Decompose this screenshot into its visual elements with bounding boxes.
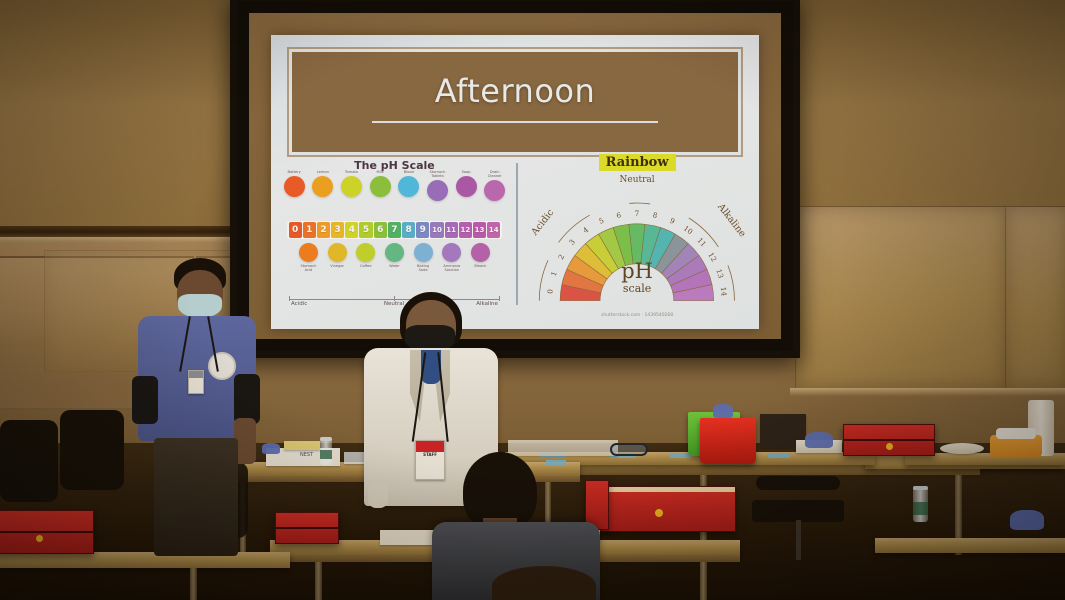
surgical-mask-icon	[178, 294, 222, 318]
ph-item: Drain Cleaner	[488, 170, 502, 201]
table-back-right-edge	[560, 469, 980, 475]
table-leg	[700, 562, 707, 600]
safety-goggles-icon	[610, 443, 648, 456]
ph-item-icon	[456, 176, 477, 197]
rainbow-neutral-label: Neutral	[521, 175, 753, 185]
badge-header	[416, 441, 444, 452]
bottle-label	[913, 502, 928, 515]
ph-number-cell: 5	[359, 222, 372, 238]
water-bottle	[320, 437, 332, 465]
paper-pile	[284, 441, 320, 450]
ph-item: Ammonia Solution	[445, 243, 459, 272]
red-toolbox-case	[843, 424, 935, 456]
blue-tape-strip	[768, 453, 790, 458]
slide-title-band: Afternoon	[289, 49, 741, 155]
ph-number-strip: 01234567891011121314	[287, 221, 502, 239]
nitrile-gloves	[805, 432, 833, 448]
ph-item-label: Soap	[462, 170, 471, 174]
rainbow-center-label: pH scale	[521, 262, 753, 295]
ph-number-cell: 3	[331, 222, 344, 238]
nitrile-gloves	[262, 443, 280, 454]
rainbow-arc-number: 2	[556, 253, 566, 261]
ph-item-label: Stomach Acid	[301, 264, 317, 273]
ph-item-label: Coffee	[360, 264, 372, 268]
ph-item-label: Blood	[404, 170, 414, 174]
ph-item: Vinegar	[330, 243, 344, 268]
whiteboard-right-1	[795, 206, 1007, 390]
ph-number-cell: 7	[388, 222, 401, 238]
undershirt-sleeve-left	[132, 376, 158, 424]
ph-item: Stomach Acid	[301, 243, 315, 272]
ph-number-cell: 9	[416, 222, 429, 238]
ph-item-icon	[370, 176, 391, 197]
gloved-hand	[368, 482, 388, 508]
ph-item-icon	[312, 176, 333, 197]
title-underline	[372, 121, 657, 123]
ph-item-label: Bleach	[474, 264, 486, 268]
ph-item-icon	[356, 243, 375, 262]
ph-number-cell: 0	[289, 222, 302, 238]
ph-number-cell: 4	[345, 222, 358, 238]
projector-screen: Afternoon The pH Scale BatteryLemonTomat…	[230, 0, 800, 358]
undershirt-sleeve-right	[234, 374, 260, 424]
ph-item-icon	[471, 243, 490, 262]
ph-item: Water	[387, 243, 401, 268]
rainbow-title: Rainbow	[599, 154, 676, 171]
nitrile-gloves	[1010, 510, 1044, 530]
ph-item: Baking Soda	[416, 243, 430, 272]
rainbow-center-scale: scale	[521, 282, 753, 295]
presentation-slide: Afternoon The pH Scale BatteryLemonTomat…	[271, 35, 759, 329]
rainbow-arc-number: 4	[581, 225, 590, 235]
paper-plate	[940, 443, 984, 454]
classroom-chair	[60, 410, 124, 490]
ph-item-icon	[398, 176, 419, 197]
ph-item: Lemon	[316, 170, 330, 197]
classroom-chair	[756, 476, 840, 490]
ph-item: Coffee	[359, 243, 373, 268]
ph-item: Soap	[459, 170, 473, 197]
ph-item-icon	[414, 243, 433, 262]
bottle-cap	[320, 437, 332, 441]
ph-item-icon	[341, 176, 362, 197]
ph-number-cell: 14	[487, 222, 500, 238]
ph-item-label: Vinegar	[330, 264, 344, 268]
rainbow-arc-number: 6	[616, 210, 623, 220]
slide-divider	[516, 163, 518, 305]
red-bin	[700, 418, 756, 464]
rainbow-arc-number: 3	[567, 237, 577, 247]
wipes-lid	[996, 428, 1036, 439]
ph-item-label: Ammonia Solution	[443, 264, 460, 273]
classroom-photo: Afternoon The pH Scale BatteryLemonTomat…	[0, 0, 1065, 600]
ph-item-label: Battery	[288, 170, 301, 174]
nitrile-gloves	[713, 404, 733, 418]
case-band	[844, 439, 934, 441]
ph-item-label: Tomato	[345, 170, 358, 174]
ph-number-cell: 10	[430, 222, 443, 238]
ph-item-label: Baking Soda	[416, 264, 430, 273]
bottle-label	[320, 450, 332, 460]
ph-number-cell: 8	[402, 222, 415, 238]
ph-number-cell: 11	[445, 222, 458, 238]
pants	[154, 438, 238, 556]
bottle-cap	[913, 486, 928, 490]
stock-credit: shutterstock.com · 1439540268	[521, 313, 753, 318]
rainbow-arc-number: 9	[669, 216, 677, 226]
red-toolbox-case-open	[594, 486, 736, 532]
ph-item-label: Water	[389, 264, 400, 268]
ph-top-items-row: BatteryLemonTomatoMilkBloodStomach Table…	[287, 170, 502, 216]
case-latch	[886, 443, 893, 450]
wipes-container	[990, 435, 1042, 457]
rainbow-arc-number: 7	[635, 209, 640, 218]
badge-text: STAFF	[416, 452, 444, 457]
classroom-chair	[0, 420, 58, 502]
rainbow-arc-number: 5	[598, 216, 606, 226]
ph-item-icon	[427, 180, 448, 201]
staff-badge: STAFF	[415, 440, 445, 480]
whiteboard-tray	[790, 388, 1065, 396]
rainbow-title-wrap: Rainbow	[521, 153, 753, 171]
whiteboard-right-2	[1005, 206, 1065, 390]
ph-item: Blood	[402, 170, 416, 197]
ph-item: Battery	[287, 170, 301, 197]
ph-number-cell: 6	[374, 222, 387, 238]
table-leg	[190, 568, 197, 600]
rainbow-ph-figure: Rainbow Neutral Acidic Alkaline 01234567…	[521, 153, 753, 321]
red-toolbox-case	[0, 510, 94, 554]
ph-number-cell: 12	[459, 222, 472, 238]
ph-bottom-items-row: Stomach AcidVinegarCoffeeWaterBaking Sod…	[287, 243, 502, 289]
red-toolbox-case	[275, 512, 339, 544]
ph-item-icon	[484, 180, 505, 201]
table-front-far-right	[875, 538, 1065, 553]
page-title: Afternoon	[292, 72, 738, 110]
ph-item-icon	[385, 243, 404, 262]
chair-leg	[796, 520, 801, 560]
ph-item-label: Drain Cleaner	[488, 170, 502, 179]
ph-item: Milk	[373, 170, 387, 197]
rainbow-arc-number: 10	[682, 224, 695, 237]
classroom-chair-seat	[752, 500, 844, 522]
ph-item-label: Milk	[377, 170, 384, 174]
ph-number-cell: 1	[303, 222, 316, 238]
person-student-front	[492, 566, 596, 600]
ph-item-icon	[284, 176, 305, 197]
ph-number-cell: 13	[473, 222, 486, 238]
ph-item: Tomato	[344, 170, 358, 197]
ph-item-icon	[442, 243, 461, 262]
ph-item: Bleach	[473, 243, 487, 268]
rainbow-arc-number: 11	[696, 236, 709, 249]
shirt-logo	[208, 352, 236, 380]
ph-item-icon	[328, 243, 347, 262]
supply-box-label: NEST	[300, 452, 313, 458]
id-badge	[188, 370, 204, 394]
ph-item-icon	[299, 243, 318, 262]
water-bottle	[913, 486, 928, 522]
ph-number-cell: 2	[317, 222, 330, 238]
ph-axis-label-acidic: Acidic	[291, 301, 307, 307]
ph-item: Stomach Tablets	[430, 170, 444, 201]
rainbow-arc-number: 8	[652, 210, 659, 220]
rainbow-center-ph: pH	[521, 262, 753, 282]
ph-item-label: Lemon	[317, 170, 329, 174]
ph-item-label: Stomach Tablets	[430, 170, 446, 179]
table-leg	[315, 562, 322, 600]
person-instructor	[130, 258, 260, 558]
